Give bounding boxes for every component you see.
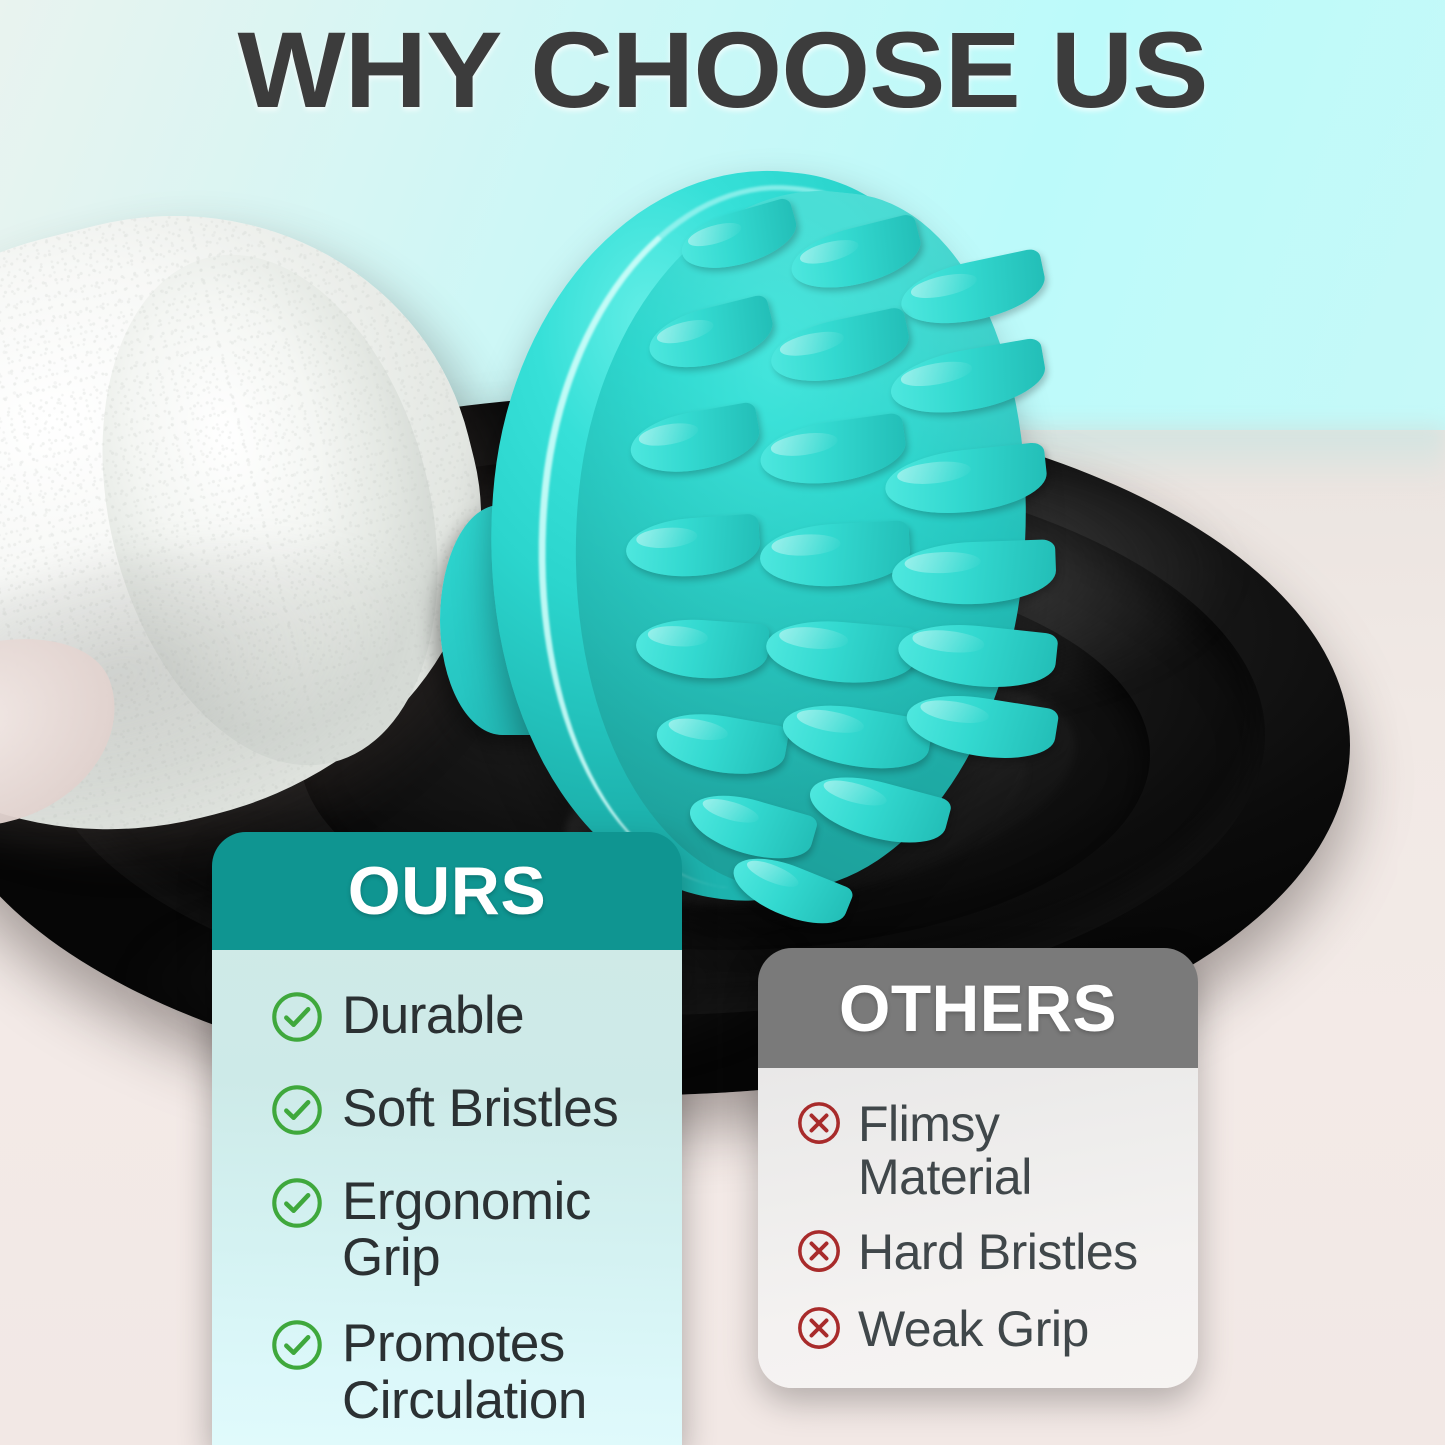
check-circle-icon [268, 1081, 326, 1144]
list-item: Soft Bristles [268, 1081, 682, 1144]
comparison-card-ours: OURS Durable Soft Bristl [212, 832, 682, 1445]
list-item-label: Durable [342, 988, 524, 1044]
others-drawback-list: Flimsy Material Hard Bristles [758, 1068, 1198, 1388]
scalp-massager-brush [430, 150, 1090, 950]
cross-circle-icon [794, 1303, 844, 1358]
comparison-card-others: OTHERS Flimsy Material H [758, 948, 1198, 1388]
list-item-label: Ergonomic Grip [342, 1174, 672, 1286]
ours-card-heading: OURS [212, 832, 682, 950]
list-item: Hard Bristles [794, 1226, 1198, 1281]
list-item: Weak Grip [794, 1303, 1198, 1358]
list-item-label: Promotes Circulation [342, 1316, 672, 1428]
check-circle-icon [268, 988, 326, 1051]
ours-feature-list: Durable Soft Bristles [212, 950, 682, 1445]
list-item-label: Hard Bristles [858, 1226, 1138, 1279]
check-circle-icon [268, 1174, 326, 1237]
infographic-canvas: WHY CHOOSE US OURS Durable [0, 0, 1445, 1445]
list-item: Flimsy Material [794, 1098, 1198, 1204]
cross-circle-icon [794, 1098, 844, 1153]
list-item: Durable [268, 988, 682, 1051]
others-card-heading: OTHERS [758, 948, 1198, 1068]
list-item-label: Soft Bristles [342, 1081, 618, 1137]
list-item-label: Flimsy Material [858, 1098, 1088, 1204]
list-item-label: Weak Grip [858, 1303, 1089, 1356]
check-circle-icon [268, 1316, 326, 1379]
cross-circle-icon [794, 1226, 844, 1281]
list-item: Ergonomic Grip [268, 1174, 682, 1286]
list-item: Promotes Circulation [268, 1316, 682, 1428]
page-title: WHY CHOOSE US [0, 16, 1445, 124]
